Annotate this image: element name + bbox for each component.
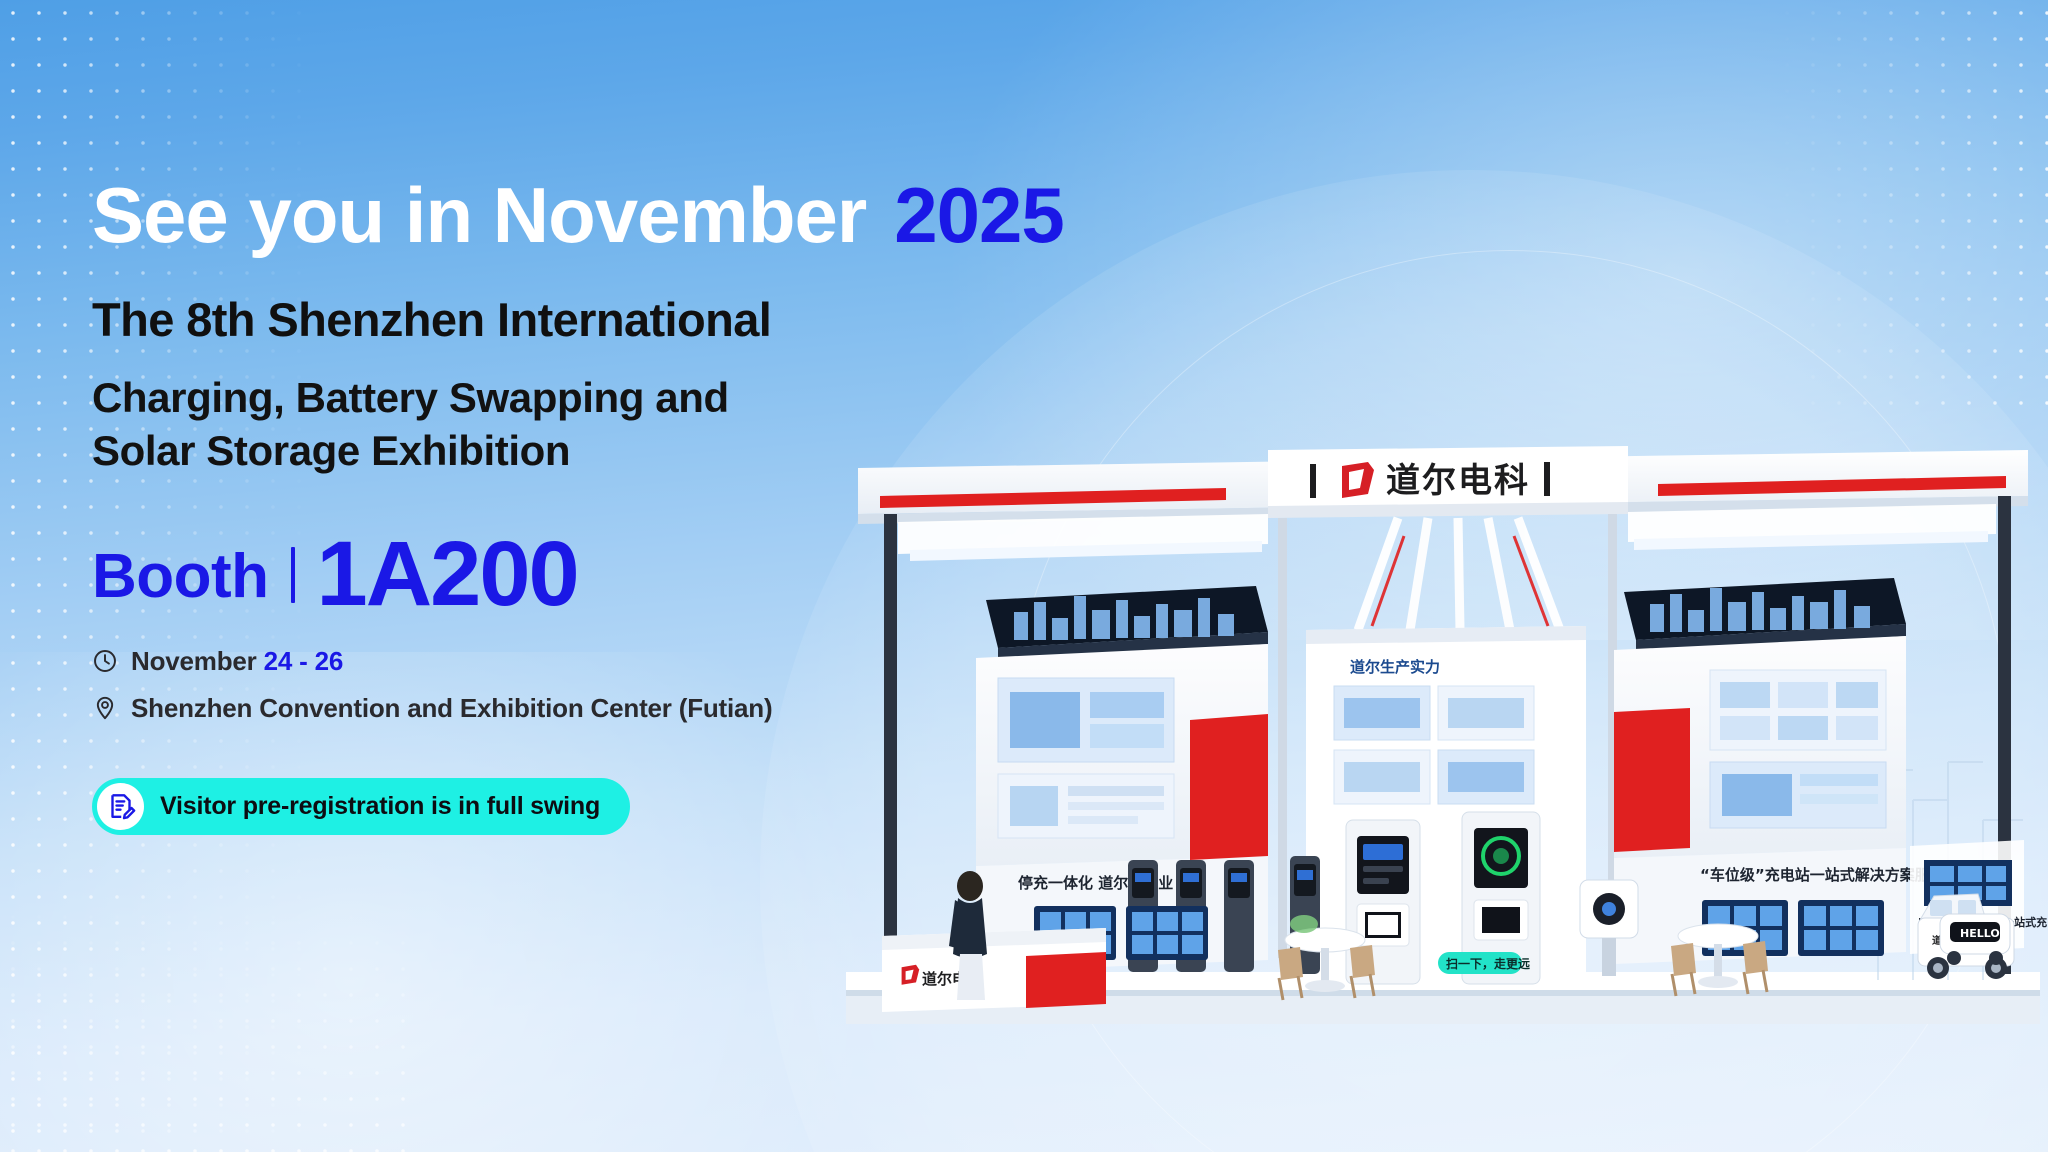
event-meta: November 24 - 26 Shenzhen Convention and… xyxy=(92,646,1112,724)
pre-registration-badge[interactable]: Visitor pre-registration is in full swin… xyxy=(92,778,630,835)
headline: See you in November 2025 xyxy=(92,176,1112,254)
date-month: November xyxy=(131,646,257,676)
location-pin-icon xyxy=(92,695,118,721)
venue-text: Shenzhen Convention and Exhibition Cente… xyxy=(131,693,772,724)
subtitle-line-1: The 8th Shenzhen International xyxy=(92,294,1112,346)
booth-info: Booth 1A200 xyxy=(92,520,1112,612)
booth-separator xyxy=(291,547,295,603)
registration-form-icon xyxy=(106,791,136,821)
booth-label: Booth xyxy=(92,546,269,608)
subtitle-line-2: Charging, Battery Swapping and xyxy=(92,372,1112,425)
clock-icon xyxy=(92,648,118,674)
promo-banner: 道尔电科 xyxy=(0,0,2048,1152)
robot-text: HELLO xyxy=(1960,927,2000,940)
subtitle-block: Charging, Battery Swapping and Solar Sto… xyxy=(92,372,1112,478)
booth-number: 1A200 xyxy=(317,528,578,620)
subtitle-line-3: Solar Storage Exhibition xyxy=(92,425,1112,478)
kiosk-sticker-text: 扫一下，走更远 xyxy=(1446,956,1530,971)
headline-main: See you in November xyxy=(92,176,866,254)
date-row: November 24 - 26 xyxy=(92,646,1112,677)
booth-brand-logo-text: 道尔电科 xyxy=(1386,461,1530,501)
dot-pattern-bottom xyxy=(0,852,420,1152)
center-panel-caption: 道尔生产实力 xyxy=(1350,658,1440,676)
date-days: 24 - 26 xyxy=(264,646,344,676)
headline-year: 2025 xyxy=(894,176,1064,254)
reception-counter: 道尔电科 xyxy=(882,928,1106,1012)
badge-icon-circle xyxy=(97,783,144,830)
badge-label: Visitor pre-registration is in full swin… xyxy=(160,792,600,821)
venue-row: Shenzhen Convention and Exhibition Cente… xyxy=(92,693,1112,724)
banner-copy: See you in November 2025 The 8th Shenzhe… xyxy=(92,176,1112,835)
date-text: November 24 - 26 xyxy=(131,646,343,677)
